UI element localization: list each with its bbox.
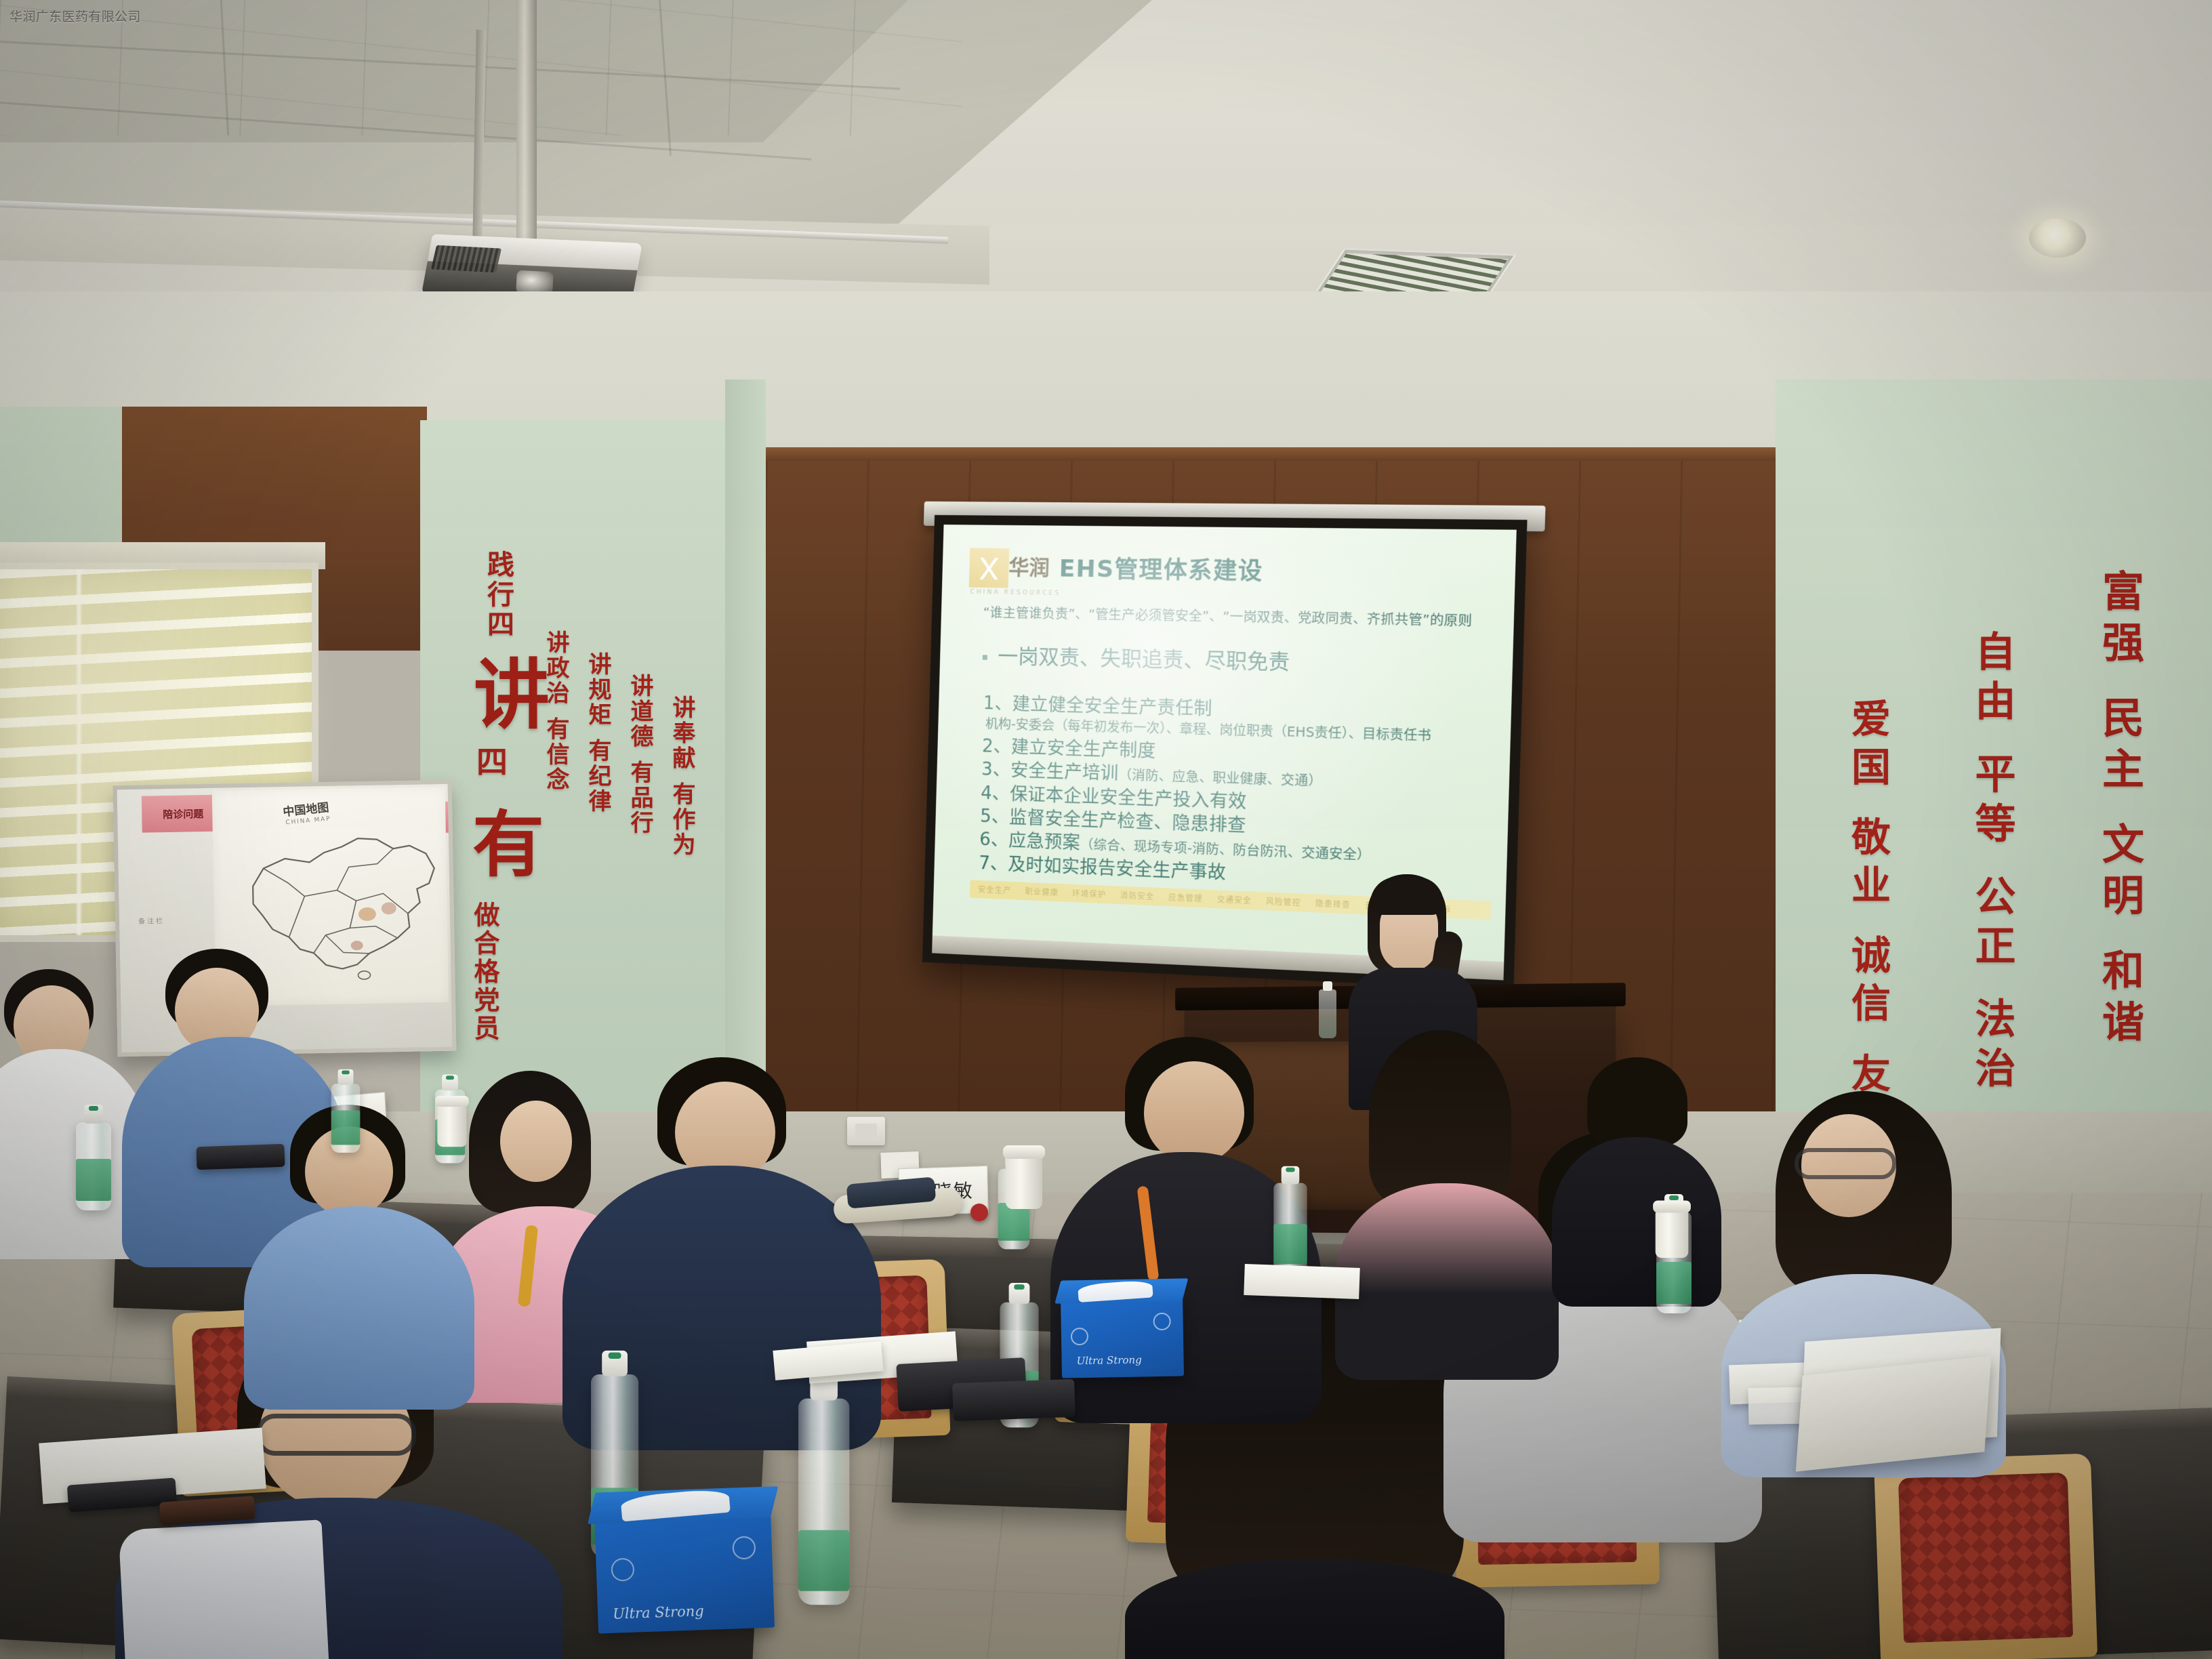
wall-text-left-col-4: 讲奉献 有作为 bbox=[665, 695, 699, 858]
tea-cup[interactable] bbox=[437, 1105, 466, 1147]
slide-key-bullet: 一岗双责、失职追责、尽职免责 bbox=[981, 638, 1491, 680]
projector-mount-pole bbox=[516, 0, 537, 252]
red-marker-cap[interactable] bbox=[970, 1204, 988, 1221]
tissue-box[interactable]: Ultra Strong bbox=[594, 1509, 775, 1634]
wall-text-left-col-3: 讲道德 有品行 bbox=[623, 674, 657, 836]
slide-subtitle: “谁主管谁负责”、“管生产必须管安全”、“一岗双责、党政同责、齐抓共管”的原则 bbox=[983, 602, 1492, 630]
attendee-head bbox=[1144, 1061, 1244, 1164]
slide-item-num: 2、 bbox=[982, 736, 1012, 757]
tissue-box-brand: Ultra Strong bbox=[613, 1603, 704, 1622]
slide-footer-tag: 消防安全 bbox=[1120, 890, 1155, 902]
conference-room-scene: 践行四 讲 四 有 做合格党员 讲政治 有信念 讲规矩 有纪律 讲道德 有品行 … bbox=[0, 0, 2212, 1659]
whiteboard-note: 备注栏 bbox=[138, 915, 165, 926]
attendee-hair bbox=[1587, 1057, 1687, 1147]
slide-item-num: 6、 bbox=[979, 829, 1009, 851]
wall-panel-green-far bbox=[0, 407, 122, 562]
photo-watermark: 华润广东医药有限公司 bbox=[9, 7, 141, 25]
slide-footer-tag: 隐患排查 bbox=[1315, 898, 1351, 911]
slide-item-text: 安全生产培训 bbox=[1010, 760, 1119, 784]
water-bottle[interactable] bbox=[331, 1084, 361, 1153]
tablet-device[interactable] bbox=[952, 1379, 1076, 1421]
slide-footer-tag: 应急管理 bbox=[1168, 892, 1203, 904]
pen[interactable] bbox=[196, 1144, 285, 1170]
slide-footer-tag: 环境保护 bbox=[1072, 888, 1107, 900]
wall-text-left-headline-top: 践行四 bbox=[478, 550, 518, 640]
slide-numbered-list: 1、建立健全安全生产责任制 机构-安委会（每年初发布一次）、章程、岗位职责（EH… bbox=[979, 692, 1490, 895]
slide-item-text: 应急预案 bbox=[1008, 831, 1081, 854]
notebook-paper[interactable] bbox=[1244, 1264, 1360, 1299]
attendee-torso bbox=[244, 1206, 474, 1410]
water-bottle[interactable] bbox=[76, 1122, 111, 1210]
tea-cup[interactable] bbox=[1656, 1210, 1689, 1258]
slide-item-num: 1、 bbox=[983, 693, 1012, 714]
wall-text-left-headline-si: 四 bbox=[468, 745, 512, 780]
eyeglasses-icon bbox=[256, 1414, 416, 1456]
wall-switch-plate[interactable] bbox=[847, 1117, 885, 1145]
eyeglasses-icon bbox=[1795, 1148, 1896, 1179]
wall-text-right-col-2: 自由 平等 公正 法治 bbox=[1963, 630, 2022, 1097]
ceiling-downlight bbox=[2029, 218, 2086, 258]
attendee bbox=[0, 969, 142, 1254]
blinds-cord[interactable] bbox=[76, 569, 82, 935]
wall-text-right-col-1: 富强 民主 文明 和谐 bbox=[2089, 569, 2150, 1051]
slide-title: EHS管理体系建设 bbox=[1059, 549, 1264, 592]
slide-item-num: 5、 bbox=[980, 806, 1010, 828]
tissue-box[interactable]: Ultra Strong bbox=[1061, 1294, 1184, 1378]
slide-footer-tag: 交通安全 bbox=[1216, 894, 1252, 907]
wall-text-left-headline-you: 有 bbox=[450, 806, 554, 878]
wall-panel-green-divider bbox=[725, 380, 766, 1125]
company-logo-icon bbox=[969, 548, 1010, 588]
presenter-fringe bbox=[1370, 877, 1443, 915]
attendee bbox=[1328, 1030, 1559, 1369]
slide-footer-tag: 安全生产 bbox=[978, 884, 1012, 896]
attendee-torso bbox=[1335, 1183, 1559, 1380]
tea-cup[interactable] bbox=[1006, 1156, 1042, 1209]
slide-item-note: （消防、应急、职业健康、交通） bbox=[1118, 768, 1322, 790]
projector-vent-icon bbox=[431, 245, 501, 273]
tissue-box-brand: Ultra Strong bbox=[1076, 1354, 1141, 1368]
company-logo-text: 华润 bbox=[1008, 548, 1050, 588]
slide-item-text: 建立健全安全生产责任制 bbox=[1012, 694, 1212, 720]
wall-text-right-col-3: 爱国 敬业 诚信 友善 bbox=[1839, 698, 1896, 1149]
attendee-hair bbox=[1369, 1030, 1511, 1206]
wall-text-left-col-2: 讲规矩 有纪律 bbox=[581, 652, 615, 815]
slide-footer-tag: 风险管控 bbox=[1266, 896, 1301, 909]
slide-item-num: 7、 bbox=[979, 853, 1008, 875]
attendee-collar bbox=[119, 1519, 329, 1659]
slide-item-num: 3、 bbox=[981, 760, 1011, 781]
chair[interactable] bbox=[1874, 1454, 2097, 1659]
slide-item-num: 4、 bbox=[981, 783, 1010, 804]
attendee-torso bbox=[1552, 1137, 1721, 1307]
slide-header: 华润 EHS管理体系建设 CHINA RESOURCES bbox=[968, 548, 1494, 604]
water-bottle[interactable] bbox=[798, 1399, 849, 1605]
water-bottle[interactable] bbox=[1273, 1183, 1307, 1273]
wall-text-left-headline-tail: 做合格党员 bbox=[466, 901, 504, 1043]
slide-item-text: 建立安全生产制度 bbox=[1011, 737, 1156, 762]
slide-footer-tag: 职业健康 bbox=[1025, 886, 1059, 898]
wall-text-left-col-1: 讲政治 有信念 bbox=[539, 630, 573, 793]
